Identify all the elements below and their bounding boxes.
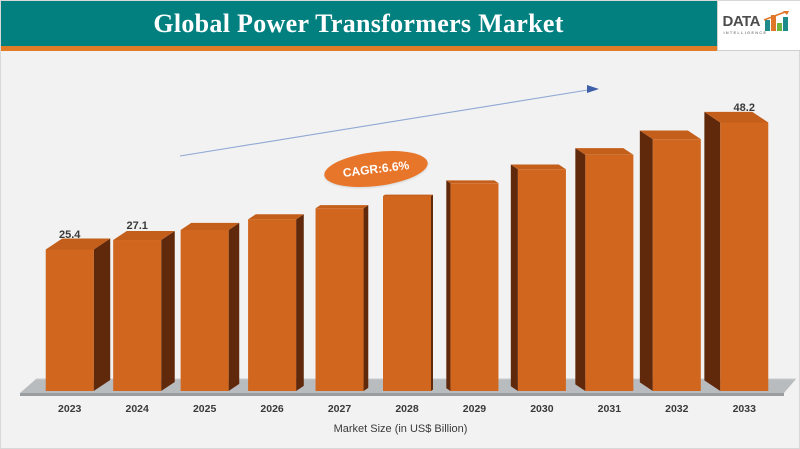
bar-2028 <box>383 195 433 391</box>
logo-wordmark: DATA <box>723 13 760 30</box>
bar-value-label-2033: 48.2 <box>706 102 782 114</box>
category-label-2027: 2027 <box>302 403 378 415</box>
category-label-2024: 2024 <box>99 403 175 415</box>
bar-2023 <box>46 238 111 391</box>
bar-2033 <box>704 112 768 391</box>
x-axis-title: Market Size (in US$ Billion) <box>2 423 799 435</box>
bar-2027 <box>316 205 369 391</box>
bar-2030 <box>511 165 566 391</box>
category-label-2031: 2031 <box>571 403 647 415</box>
category-label-2028: 2028 <box>369 403 445 415</box>
bar-2024 <box>113 231 175 391</box>
cagr-trend-arrow <box>180 85 599 156</box>
bar-2031 <box>575 148 633 391</box>
category-label-2033: 2033 <box>706 403 782 415</box>
brand-logo: DATA INTELLIGENCE <box>717 1 800 51</box>
bar-2026 <box>248 214 304 391</box>
cagr-label: CAGR:6.6% <box>342 158 410 180</box>
bar-value-label-2024: 27.1 <box>99 220 175 232</box>
chart-screenshot-root: Global Power Transformers Market DATA IN… <box>0 0 800 449</box>
logo-trend-arrow-icon <box>763 11 797 21</box>
bar-2029 <box>446 180 498 391</box>
bar-2025 <box>181 223 240 391</box>
chart-plot-area: CAGR:6.6% 25.427.148.2 20232024202520262… <box>2 51 799 448</box>
bar-2032 <box>640 131 701 391</box>
category-label-2025: 2025 <box>167 403 243 415</box>
category-label-2030: 2030 <box>504 403 580 415</box>
category-label-2026: 2026 <box>234 403 310 415</box>
category-label-2023: 2023 <box>32 403 108 415</box>
bar-value-label-2023: 25.4 <box>32 229 108 241</box>
page-title: Global Power Transformers Market <box>1 1 716 46</box>
category-label-2029: 2029 <box>436 403 512 415</box>
logo-tagline: INTELLIGENCE <box>724 30 768 35</box>
bar-chart-3d <box>2 51 799 448</box>
category-label-2032: 2032 <box>639 403 715 415</box>
